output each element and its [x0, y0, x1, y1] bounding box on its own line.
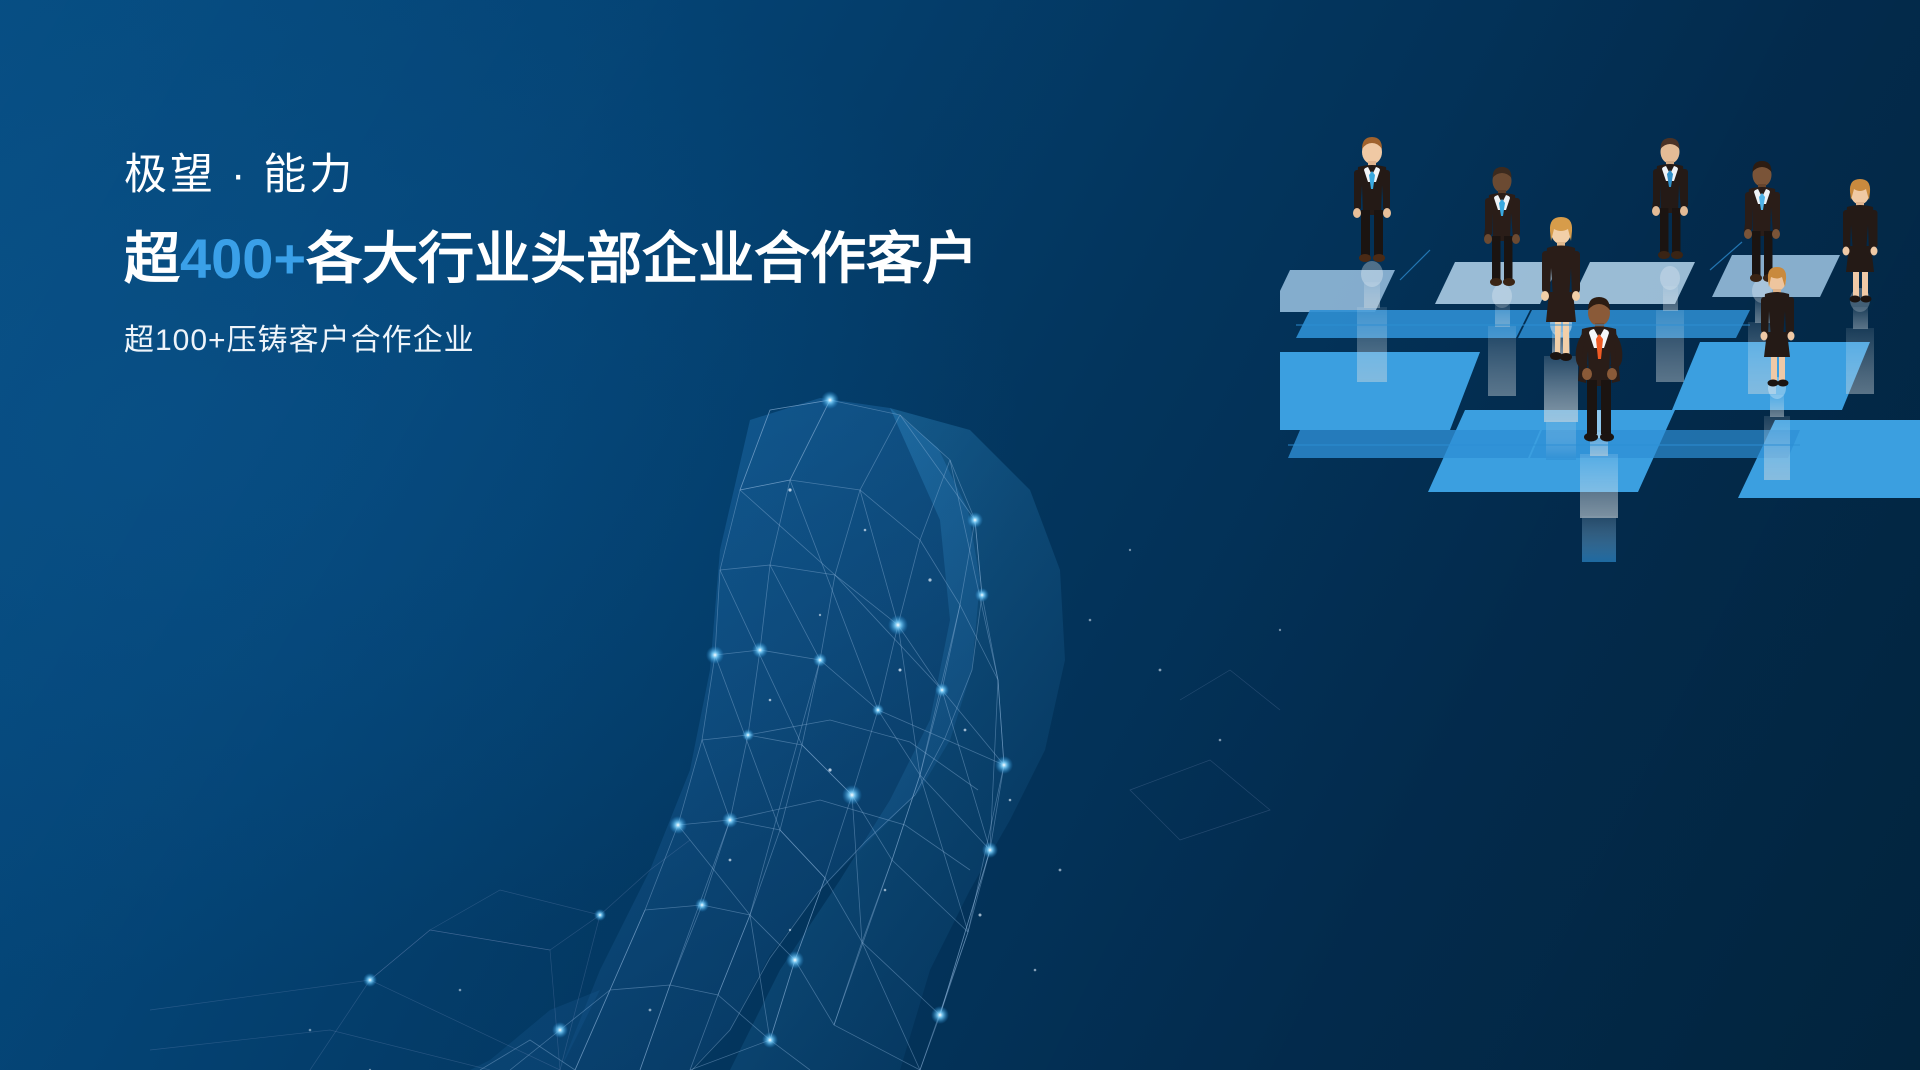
hand-right: [1607, 368, 1617, 380]
shoe-left: [1490, 278, 1502, 286]
arm-left: [1761, 297, 1767, 333]
arm-left: [1653, 169, 1660, 208]
team-scene-svg: [1280, 120, 1920, 590]
suit-jacket: [1354, 165, 1390, 215]
person-right-back: [1744, 161, 1780, 394]
person-reflection: [1488, 284, 1516, 396]
platform-1: [1280, 270, 1395, 312]
tie: [1369, 171, 1375, 189]
head: [1753, 164, 1772, 187]
hair: [1850, 179, 1870, 200]
hand-left: [1843, 247, 1850, 256]
shoe-right: [1373, 254, 1385, 262]
leg-left: [1752, 231, 1761, 276]
hand-left: [1582, 368, 1592, 380]
leg-left: [1771, 357, 1777, 382]
shirt: [1364, 167, 1380, 182]
platform-6: [1518, 310, 1750, 338]
arm-left: [1745, 192, 1752, 231]
shoe-right: [1503, 278, 1515, 286]
leg-left: [1660, 208, 1669, 253]
skirt: [1846, 246, 1874, 272]
neck: [1856, 202, 1864, 208]
page-title: 超400+各大行业头部企业合作客户: [124, 227, 978, 291]
leg-right: [1779, 357, 1785, 382]
suit-jacket: [1543, 246, 1579, 299]
shoe-right: [1671, 251, 1683, 259]
shoe-left: [1850, 296, 1861, 303]
person-right-female: [1761, 267, 1795, 480]
arm-right: [1681, 169, 1688, 208]
hair: [1768, 267, 1786, 287]
suit-jacket: [1762, 292, 1792, 338]
leg-right: [1601, 380, 1611, 434]
arm-left: [1485, 198, 1492, 236]
skirt: [1764, 332, 1790, 357]
person-reflection: [1544, 311, 1578, 460]
shoe-left: [1658, 251, 1670, 259]
hand-right: [1383, 208, 1391, 218]
hair: [1661, 138, 1680, 149]
person-back-left: [1353, 137, 1391, 382]
hair: [1493, 167, 1512, 178]
shoe-left: [1584, 433, 1598, 442]
suit-jacket: [1652, 164, 1687, 213]
hair: [1550, 217, 1572, 241]
background-mesh-lines: [150, 670, 1280, 1070]
shoe-left: [1550, 352, 1562, 360]
hand-right: [1572, 291, 1580, 301]
arm-right: [1513, 198, 1520, 236]
head: [1661, 141, 1680, 164]
leg-left: [1492, 236, 1501, 280]
leg-left: [1587, 380, 1597, 434]
person-reflection: [1748, 279, 1776, 394]
shoe-left: [1359, 254, 1371, 262]
hand-right: [1871, 247, 1878, 256]
shoe-right: [1778, 380, 1789, 387]
fist-mesh-lines: [480, 400, 1004, 1070]
slide-canvas: 极望 · 能力 超400+各大行业头部企业合作客户 超100+压铸客户合作企业: [0, 0, 1920, 1070]
hand-right: [1772, 229, 1780, 239]
leg-right: [1374, 210, 1383, 256]
arm-left-akimbo: [1576, 332, 1588, 371]
suit-jacket: [1843, 205, 1876, 253]
platform-group-front: [1280, 342, 1920, 498]
platform-connector-lines: [1288, 242, 1800, 445]
head: [1851, 182, 1870, 205]
shirt: [1754, 189, 1770, 204]
suit-jacket: [1578, 327, 1620, 387]
neck: [1758, 184, 1766, 190]
platform-4: [1712, 255, 1840, 297]
leg-right: [1862, 272, 1868, 298]
arm-right: [1383, 170, 1390, 210]
hand-left: [1484, 234, 1492, 244]
shoe-left: [1768, 380, 1779, 387]
suit-jacket: [1744, 187, 1779, 236]
shoe-right: [1861, 296, 1872, 303]
tie: [1759, 193, 1765, 210]
arm-left: [1542, 251, 1549, 293]
head: [1588, 300, 1610, 326]
hand-left: [1353, 208, 1361, 218]
blouse: [1852, 207, 1868, 224]
hair: [1362, 137, 1382, 149]
tie: [1596, 334, 1603, 359]
shoe-left: [1750, 274, 1762, 282]
hand-left: [1652, 206, 1660, 216]
person-reflection: [1580, 410, 1618, 562]
star-specks: [309, 488, 1282, 1070]
hand-left: [1541, 291, 1549, 301]
blouse: [1553, 247, 1569, 263]
shirt: [1589, 329, 1609, 348]
neck: [1557, 242, 1565, 249]
platform-8: [1672, 342, 1870, 410]
shirt: [1662, 166, 1678, 181]
person-center-back: [1652, 138, 1688, 382]
head: [1551, 220, 1571, 244]
shoe-right: [1560, 353, 1572, 361]
headline-number: 400+: [180, 227, 306, 290]
neck: [1666, 161, 1674, 167]
platform-3: [1570, 262, 1695, 304]
suit-jacket: [1484, 193, 1519, 241]
network-fist-illustration: [130, 370, 1310, 1070]
neck: [1595, 323, 1604, 330]
eyebrow-text: 极望 · 能力: [124, 150, 978, 201]
arm-left: [1843, 210, 1850, 248]
business-team-illustration: [1280, 120, 1920, 590]
headline-suffix: 各大行业头部企业合作客户: [306, 227, 978, 290]
neck: [1773, 289, 1781, 295]
skirt: [1546, 292, 1576, 322]
platform-11: [1288, 430, 1540, 458]
platform-9: [1428, 410, 1675, 492]
hand-left: [1761, 332, 1768, 341]
person-reflection: [1357, 261, 1387, 382]
arm-left: [1354, 170, 1361, 210]
head: [1768, 269, 1786, 291]
fist-svg: [130, 370, 1310, 1070]
arm-right: [1773, 192, 1780, 231]
arm-right: [1788, 297, 1794, 333]
leg-right: [1764, 231, 1773, 276]
platform-7: [1280, 352, 1480, 430]
person-mid-left: [1484, 167, 1520, 396]
blouse: [1769, 294, 1785, 311]
hand-right: [1512, 234, 1520, 244]
hand-right: [1788, 332, 1795, 341]
subtitle-text: 超100+压铸客户合作企业: [124, 315, 978, 359]
platform-2: [1435, 262, 1560, 304]
shirt: [1494, 195, 1510, 210]
arm-right: [1871, 210, 1878, 248]
person-reflection: [1656, 266, 1684, 382]
tie: [1499, 199, 1505, 216]
platform-10: [1738, 420, 1920, 498]
hand-left: [1744, 229, 1752, 239]
head: [1362, 140, 1382, 164]
person-far-right-female: [1843, 179, 1878, 394]
person-reflection: [1764, 377, 1790, 480]
shoe-right: [1600, 433, 1614, 442]
leg-left: [1555, 322, 1561, 354]
neck: [1368, 161, 1376, 168]
neck: [1498, 190, 1506, 196]
platform-group-back: [1280, 255, 1840, 338]
leg-left: [1853, 272, 1859, 298]
shoe-right: [1763, 274, 1775, 282]
tie: [1667, 170, 1673, 187]
arm-right-akimbo: [1610, 332, 1622, 371]
platform-12: [1530, 430, 1800, 458]
fist-nodes: [363, 391, 1013, 1048]
leg-right: [1672, 208, 1681, 253]
hand-right: [1680, 206, 1688, 216]
platform-5: [1296, 310, 1530, 338]
fist-silhouette: [470, 398, 1065, 1070]
person-front-female: [1541, 217, 1580, 460]
leg-right: [1504, 236, 1513, 280]
leg-right: [1563, 322, 1569, 354]
hair: [1588, 297, 1610, 310]
leg-left: [1361, 210, 1370, 256]
arm-right: [1573, 251, 1580, 293]
person-leader-center: [1576, 297, 1623, 562]
headline-text-block: 极望 · 能力 超400+各大行业头部企业合作客户 超100+压铸客户合作企业: [124, 150, 978, 359]
hair: [1753, 161, 1772, 172]
headline-prefix: 超: [124, 227, 180, 290]
person-reflection: [1846, 288, 1874, 394]
head: [1493, 170, 1512, 193]
